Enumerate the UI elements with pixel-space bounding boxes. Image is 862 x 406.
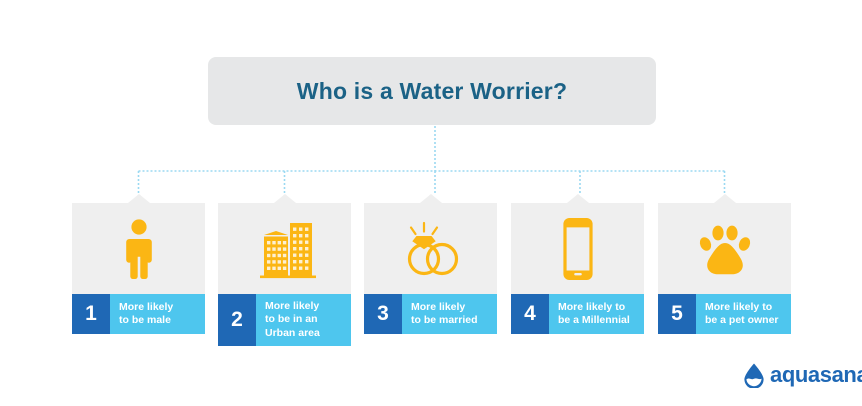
card-2[interactable]: 2 More likely to be in an Urban area (218, 203, 351, 346)
card-number-1: 1 (72, 294, 110, 334)
smartphone-icon (560, 218, 596, 280)
card-label-2-line-2: to be in an (265, 313, 320, 326)
label-bar-4: 4 More likely to be a Millennial (511, 294, 644, 334)
card-3[interactable]: 3 More likely to be married (364, 203, 497, 334)
card-label-3-line-1: More likely (411, 301, 478, 314)
card-label-3: More likely to be married (402, 294, 497, 334)
card-pointer-icon (714, 194, 736, 203)
card-pointer-icon (420, 194, 442, 203)
person-icon (120, 218, 158, 280)
card-4[interactable]: 4 More likely to be a Millennial (511, 203, 644, 334)
wedding-rings-icon (400, 219, 462, 279)
card-label-4-line-2: be a Millennial (558, 314, 630, 327)
label-bar-5: 5 More likely to be a pet owner (658, 294, 791, 334)
card-label-1: More likely to be male (110, 294, 205, 334)
icon-panel-5 (658, 203, 791, 294)
card-pointer-icon (128, 194, 150, 203)
card-number-2: 2 (218, 294, 256, 346)
label-bar-1: 1 More likely to be male (72, 294, 205, 334)
icon-panel-2 (218, 203, 351, 294)
card-5[interactable]: 5 More likely to be a pet owner (658, 203, 791, 334)
card-label-1-line-2: to be male (119, 314, 173, 327)
label-bar-3: 3 More likely to be married (364, 294, 497, 334)
icon-panel-1 (72, 203, 205, 294)
card-pointer-icon (567, 194, 589, 203)
card-label-3-line-2: to be married (411, 314, 478, 327)
card-label-5-line-1: More likely to (705, 301, 779, 314)
card-label-4-line-1: More likely to (558, 301, 630, 314)
card-1[interactable]: 1 More likely to be male (72, 203, 205, 334)
card-number-5: 5 (658, 294, 696, 334)
water-droplet-icon (742, 362, 766, 388)
card-pointer-icon (274, 194, 296, 203)
card-label-4: More likely to be a Millennial (549, 294, 644, 334)
paw-print-icon (695, 220, 755, 278)
aquasana-logo[interactable]: aquasana. (742, 362, 862, 388)
card-label-5: More likely to be a pet owner (696, 294, 791, 334)
card-label-1-line-1: More likely (119, 301, 173, 314)
icon-panel-4 (511, 203, 644, 294)
label-bar-2: 2 More likely to be in an Urban area (218, 294, 351, 346)
buildings-icon (252, 218, 318, 280)
card-label-5-line-2: be a pet owner (705, 314, 779, 327)
card-number-3: 3 (364, 294, 402, 334)
card-label-2-line-1: More likely (265, 300, 320, 313)
aquasana-wordmark: aquasana. (770, 364, 862, 386)
page-title: Who is a Water Worrier? (297, 78, 567, 105)
icon-panel-3 (364, 203, 497, 294)
card-label-2: More likely to be in an Urban area (256, 294, 351, 346)
card-label-2-line-3: Urban area (265, 327, 320, 340)
card-number-4: 4 (511, 294, 549, 334)
page-title-box: Who is a Water Worrier? (208, 57, 656, 125)
